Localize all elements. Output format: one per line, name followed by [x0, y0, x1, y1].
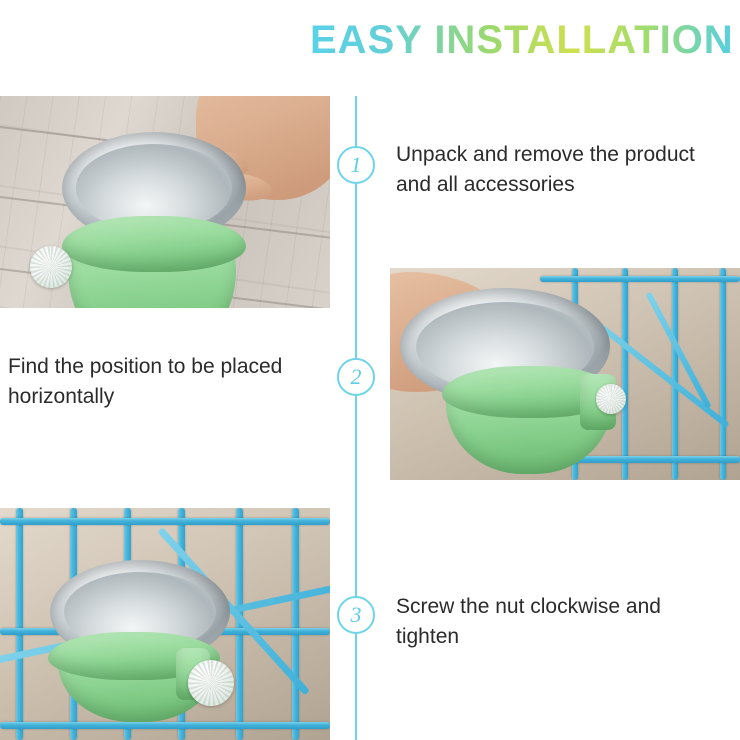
- step-3-photo: [0, 508, 330, 740]
- installation-infographic: EASY INSTALLATION: [0, 0, 740, 740]
- nut-ridges: [30, 246, 72, 288]
- step-3-text: Screw the nut clockwise and tighten: [396, 592, 726, 653]
- step-1-badge: 1: [337, 146, 375, 184]
- cage-wire-horizontal: [540, 276, 740, 282]
- bowl-green-rim: [62, 216, 246, 272]
- cage-wire-vertical: [672, 268, 678, 480]
- cage-wire-vertical: [16, 508, 23, 740]
- step-2-photo: [390, 268, 740, 480]
- cage-wire-vertical: [622, 268, 628, 480]
- step-1-text: Unpack and remove the product and all ac…: [396, 140, 726, 201]
- white-nut: [30, 246, 72, 288]
- nut-ridges: [188, 660, 234, 706]
- cage-wire-horizontal: [0, 722, 330, 729]
- page-title: EASY INSTALLATION: [310, 18, 734, 63]
- step-1-photo: [0, 96, 330, 308]
- timeline-line: [355, 96, 357, 740]
- white-nut: [188, 660, 234, 706]
- nut-ridges: [596, 384, 626, 414]
- cage-wire-vertical: [720, 268, 726, 480]
- step-2-text: Find the position to be placed horizonta…: [8, 352, 338, 413]
- white-nut: [596, 384, 626, 414]
- step-3-badge: 3: [337, 596, 375, 634]
- step-2-badge: 2: [337, 358, 375, 396]
- cage-wire-vertical: [292, 508, 299, 740]
- cage-wire-horizontal: [0, 518, 330, 525]
